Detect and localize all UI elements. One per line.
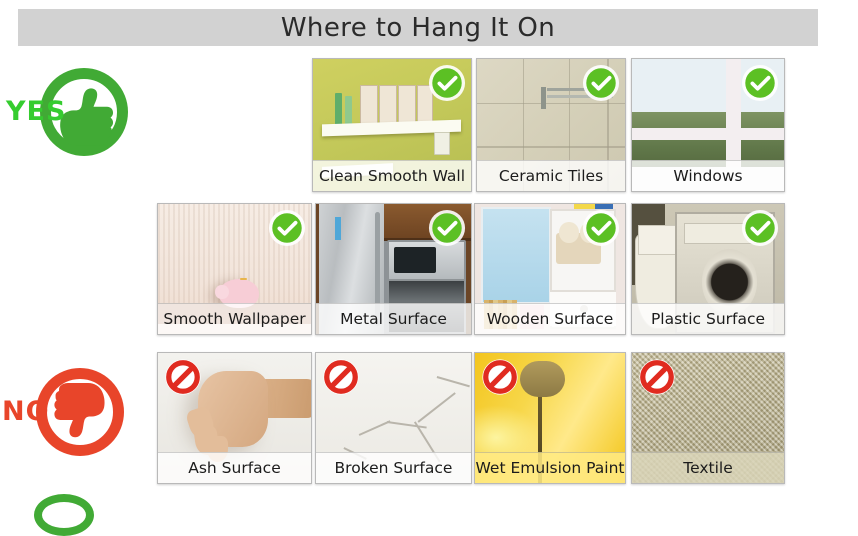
card-ash-surface[interactable]: Ash Surface [157,352,312,484]
card-label: Broken Surface [316,452,471,483]
prohibition-icon [164,358,202,396]
check-circle-icon [582,209,620,247]
check-circle-icon [428,209,466,247]
card-textile[interactable]: Textile [631,352,785,484]
card-plastic-surface[interactable]: Plastic Surface [631,203,785,335]
card-wooden-surface[interactable]: Wooden Surface [474,203,626,335]
check-circle-icon [741,209,779,247]
card-windows[interactable]: Windows [631,58,785,192]
verdict-yes: YES [2,62,132,172]
card-clean-smooth-wall[interactable]: Clean Smooth Wall [312,58,472,192]
check-circle-icon [428,64,466,102]
card-wet-emulsion-paint[interactable]: Wet Emulsion Paint [474,352,626,484]
prohibition-icon [638,358,676,396]
thumbs-down-icon [44,376,118,450]
partial-check-circle-icon [34,494,94,536]
card-label: Textile [632,452,784,483]
card-label: Plastic Surface [632,303,784,334]
card-smooth-wallpaper[interactable]: Smooth Wallpaper [157,203,312,335]
check-circle-icon [582,64,620,102]
card-label: Metal Surface [316,303,471,334]
prohibition-icon [481,358,519,396]
prohibition-icon [322,358,360,396]
card-label: Ash Surface [158,452,311,483]
card-label: Wet Emulsion Paint [475,452,625,483]
card-label: Wooden Surface [475,303,625,334]
page-header-bar: Where to Hang It On [18,9,818,46]
verdict-no: NO [0,362,128,472]
card-label: Smooth Wallpaper [158,303,311,334]
card-label: Ceramic Tiles [477,160,625,191]
card-ceramic-tiles[interactable]: Ceramic Tiles [476,58,626,192]
verdict-yes-label: YES [6,96,66,127]
verdict-no-label: NO [2,396,50,427]
card-label: Windows [632,160,784,191]
card-metal-surface[interactable]: Metal Surface [315,203,472,335]
card-label: Clean Smooth Wall [313,160,471,191]
check-circle-icon [268,209,306,247]
card-broken-surface[interactable]: Broken Surface [315,352,472,484]
page-title: Where to Hang It On [281,13,555,43]
check-circle-icon [741,64,779,102]
